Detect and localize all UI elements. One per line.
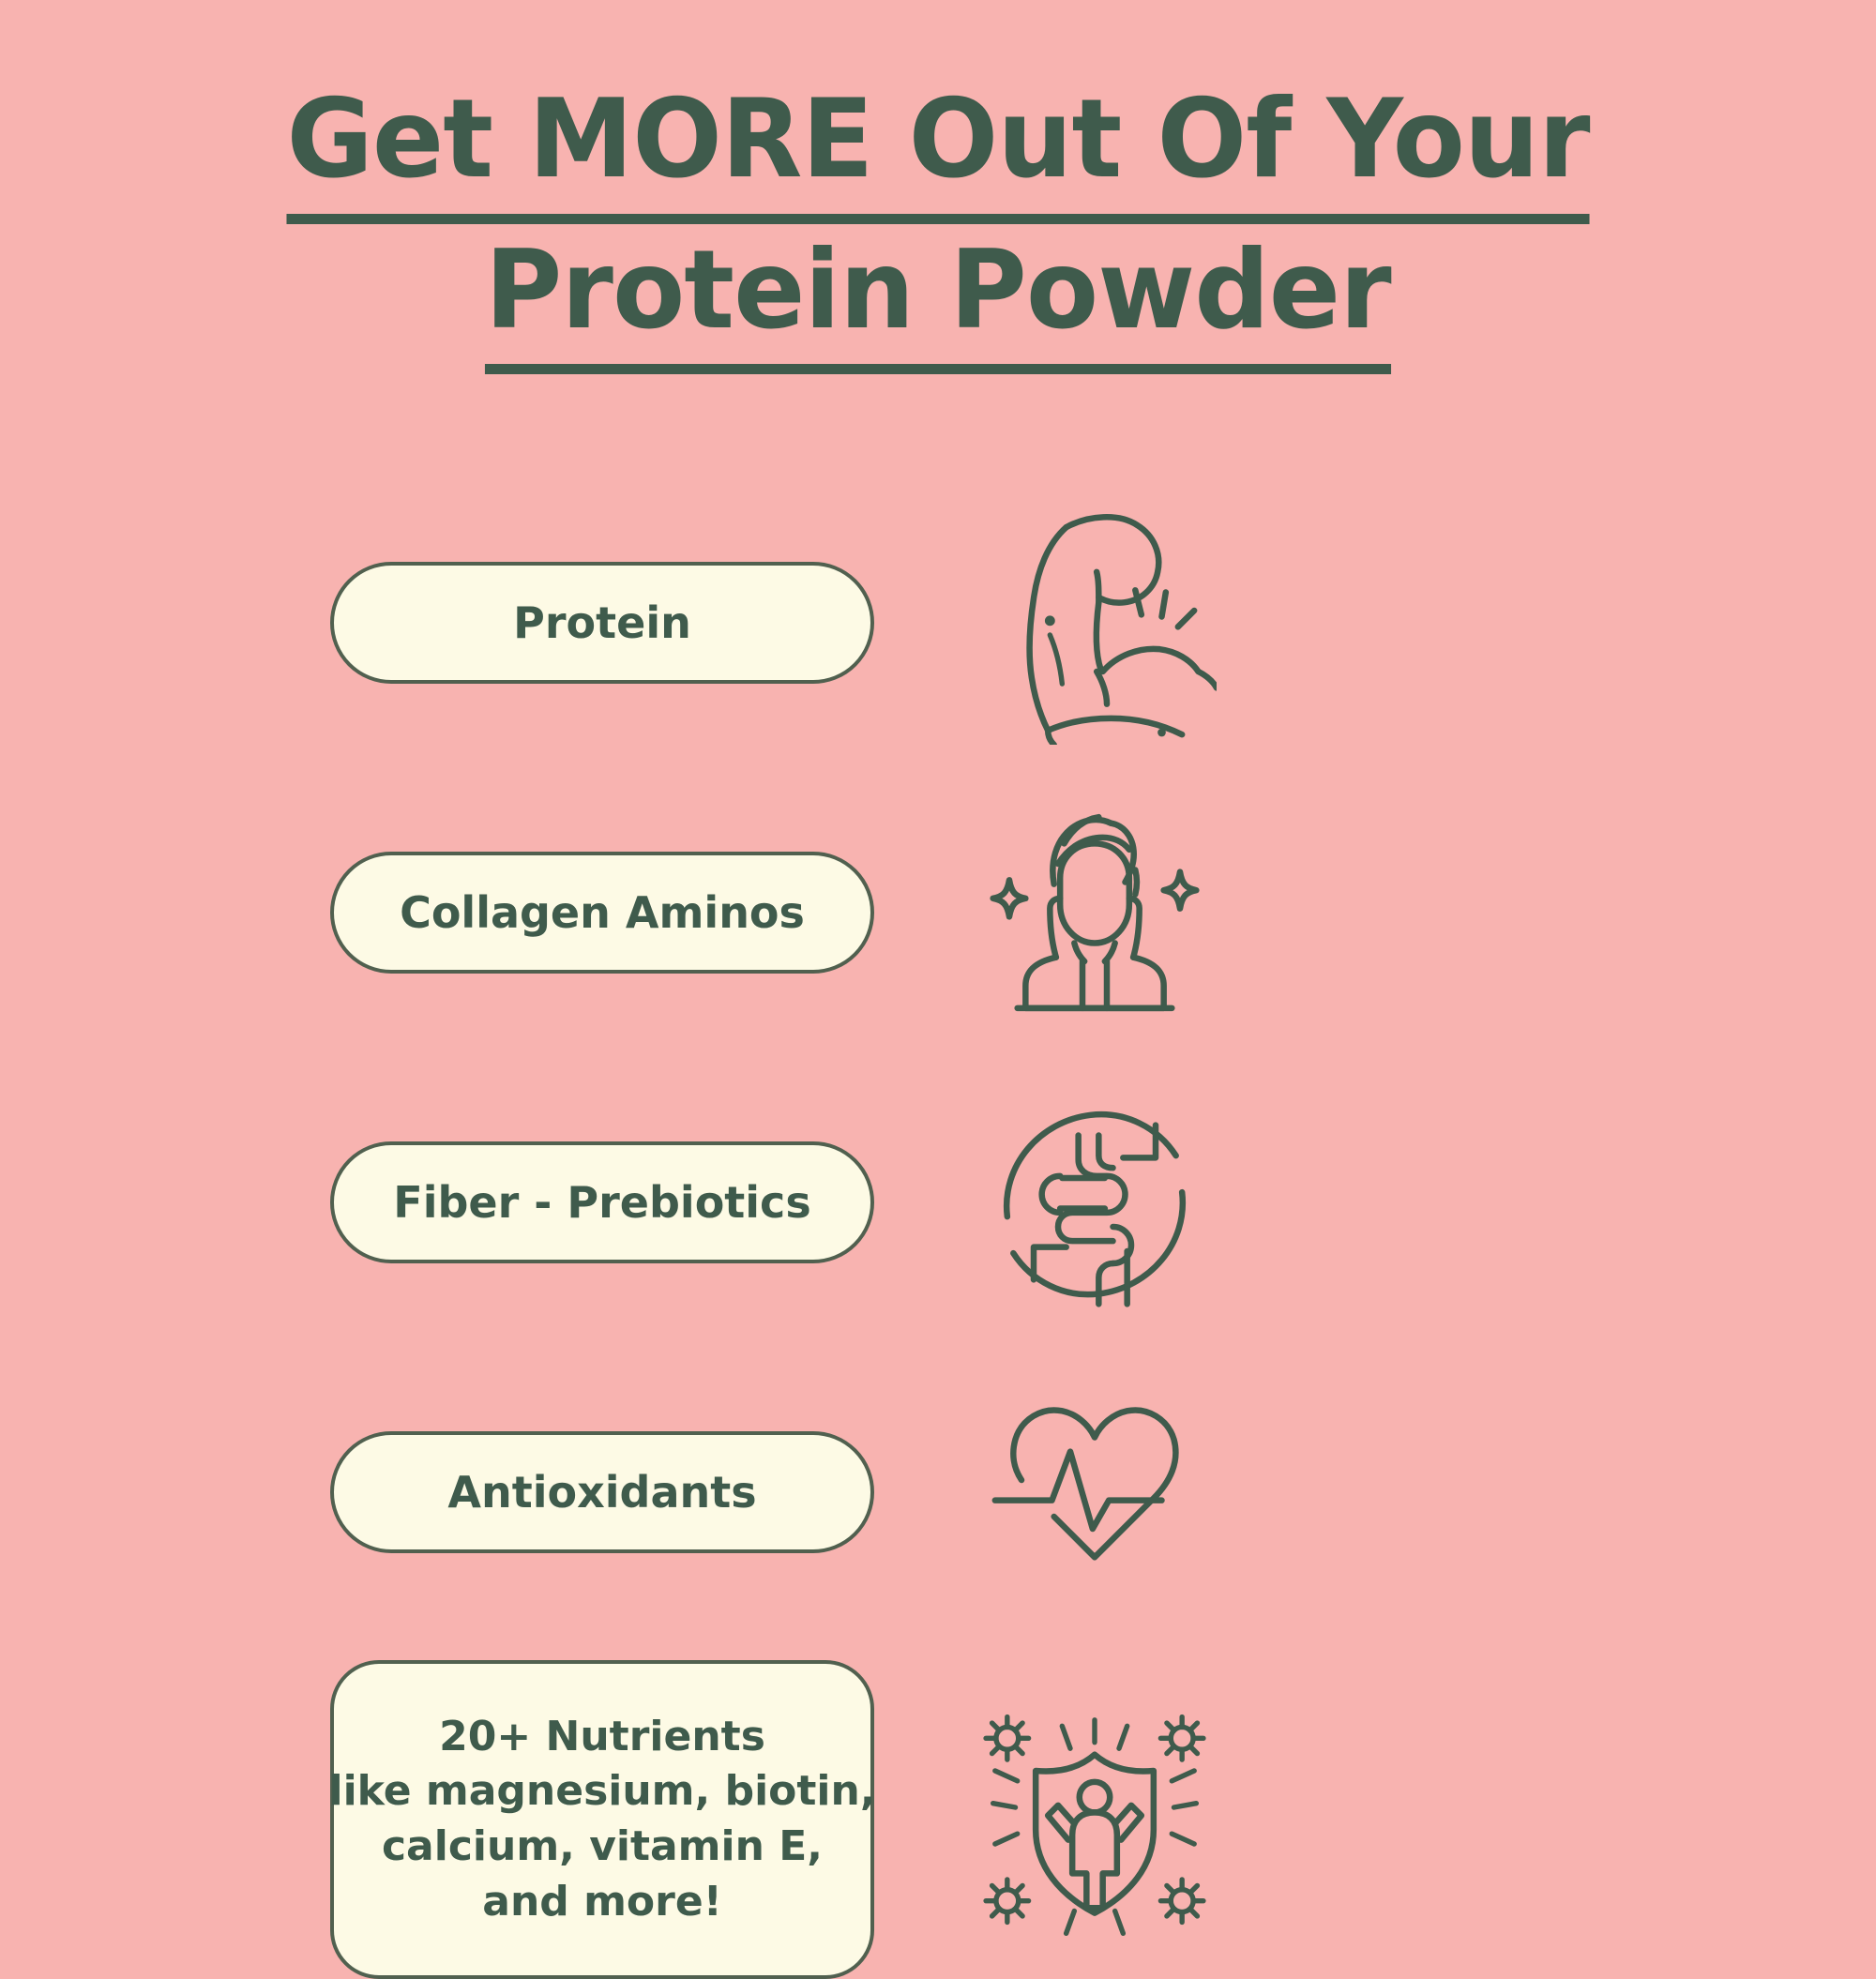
nutrients-line-1: 20+ Nutrients bbox=[328, 1710, 875, 1765]
benefit-row-fiber: Fiber - Prebiotics bbox=[0, 1080, 1876, 1324]
gut-health-icon bbox=[973, 1080, 1217, 1324]
benefit-label: Antioxidants bbox=[447, 1471, 756, 1514]
infographic-poster: Get MORE Out Of Your Protein Powder Prot… bbox=[0, 0, 1876, 1876]
benefit-pill-antioxidants[interactable]: Antioxidants bbox=[330, 1431, 874, 1553]
nutrients-text: 20+ Nutrients like magnesium, biotin, ca… bbox=[328, 1710, 875, 1929]
benefit-label: Collagen Aminos bbox=[400, 891, 805, 934]
nutrients-line-2: like magnesium, biotin, bbox=[328, 1764, 875, 1820]
benefit-pill-protein[interactable]: Protein bbox=[330, 562, 874, 684]
title-line-2-text: Protein Powder bbox=[485, 224, 1391, 375]
benefit-row-collagen: Collagen Aminos bbox=[0, 791, 1876, 1035]
title-line-1-text: Get MORE Out Of Your bbox=[286, 73, 1589, 224]
nutrients-line-3: calcium, vitamin E, bbox=[328, 1820, 875, 1875]
benefit-label: Fiber - Prebiotics bbox=[393, 1181, 810, 1224]
title-line-2: Protein Powder bbox=[0, 224, 1876, 375]
benefit-card-nutrients[interactable]: 20+ Nutrients like magnesium, biotin, ca… bbox=[330, 1660, 874, 1979]
benefit-pill-collagen[interactable]: Collagen Aminos bbox=[330, 852, 874, 974]
nutrients-line-4: and more! bbox=[328, 1875, 875, 1930]
benefit-row-antioxidants: Antioxidants bbox=[0, 1370, 1876, 1614]
benefit-label: Protein bbox=[513, 601, 691, 644]
benefit-pill-fiber[interactable]: Fiber - Prebiotics bbox=[330, 1141, 874, 1263]
immunity-shield-icon bbox=[973, 1698, 1217, 1941]
flexed-bicep-icon bbox=[973, 501, 1217, 745]
page-title: Get MORE Out Of Your Protein Powder bbox=[0, 73, 1876, 374]
heart-pulse-icon bbox=[973, 1370, 1217, 1614]
benefit-row-protein: Protein bbox=[0, 501, 1876, 745]
title-line-1: Get MORE Out Of Your bbox=[0, 73, 1876, 224]
skincare-woman-icon bbox=[973, 791, 1217, 1035]
benefit-list: Protein bbox=[0, 501, 1876, 1979]
benefit-row-nutrients: 20+ Nutrients like magnesium, biotin, ca… bbox=[0, 1660, 1876, 1979]
